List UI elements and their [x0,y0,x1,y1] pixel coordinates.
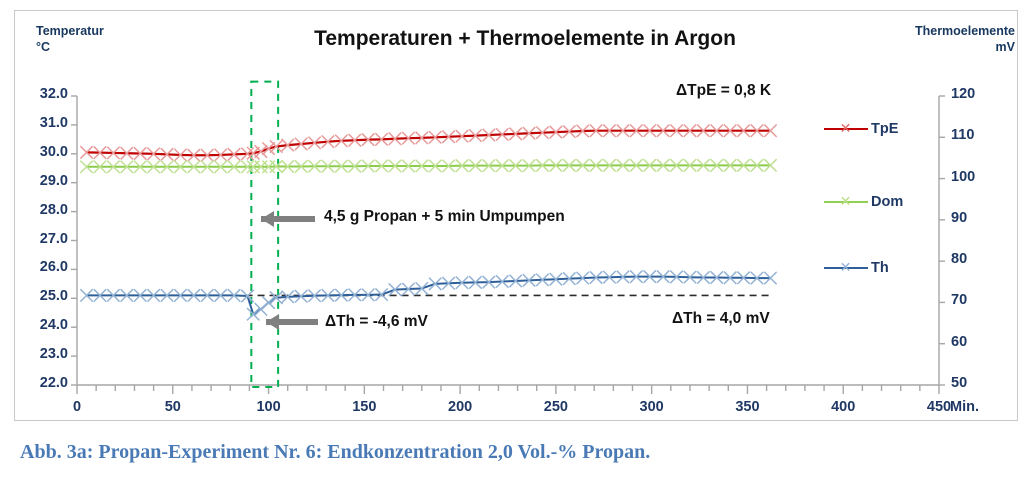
legend-marker-th-icon: ✕ [824,261,868,275]
x-tick-label: 100 [239,399,299,415]
y2-tick-label: 100 [951,169,975,185]
annotation-delta-tpe: ΔTpE = 0,8 K [676,82,771,100]
x-tick-label: 400 [813,399,873,415]
legend-label-tpe: TpE [871,121,898,137]
y2-tick-label: 50 [951,375,967,391]
x-tick-label: 350 [717,399,777,415]
y2-tick-label: 60 [951,334,967,350]
legend-item-dom[interactable]: ✕ Dom [824,194,903,210]
annotation-delta-th-pos: ΔTh = 4,0 mV [672,310,770,328]
y-tick-label: 23.0 [10,346,68,362]
y2-tick-label: 110 [951,127,974,143]
legend-item-tpe[interactable]: ✕ TpE [824,121,898,137]
right-axis-title: Thermoelemente mV [915,24,1015,55]
x-tick-label: 150 [334,399,394,415]
y-tick-label: 28.0 [10,202,68,218]
chart-title: Temperaturen + Thermoelemente in Argon [300,26,750,53]
y-tick-label: 31.0 [10,115,68,131]
legend-marker-tpe-icon: ✕ [824,122,868,136]
figure-root: Temperatur °C Thermoelemente mV Temperat… [0,0,1033,488]
y-tick-label: 22.0 [10,375,68,391]
y2-tick-label: 80 [951,251,967,267]
x-axis-unit-label: Min. [950,399,979,415]
y-tick-label: 29.0 [10,173,68,189]
x-tick-label: 200 [430,399,490,415]
legend-label-th: Th [871,260,889,276]
y-tick-label: 26.0 [10,259,68,275]
x-tick-label: 0 [47,399,107,415]
x-tick-label: 50 [143,399,203,415]
legend-item-th[interactable]: ✕ Th [824,260,889,276]
y-tick-label: 25.0 [10,288,68,304]
figure-caption: Abb. 3a: Propan-Experiment Nr. 6: Endkon… [20,441,650,464]
legend-marker-dom-icon: ✕ [824,195,868,209]
left-axis-title: Temperatur °C [36,24,104,55]
y2-tick-label: 70 [951,292,967,308]
y-tick-label: 24.0 [10,317,68,333]
legend-label-dom: Dom [871,194,903,210]
y-tick-label: 30.0 [10,144,68,160]
y-tick-label: 27.0 [10,231,68,247]
x-tick-label: 300 [622,399,682,415]
y2-tick-label: 120 [951,86,975,102]
y-tick-label: 32.0 [10,86,68,102]
x-tick-label: 250 [526,399,586,415]
annotation-propan: 4,5 g Propan + 5 min Umpumpen [324,208,565,226]
annotation-delta-th-neg: ΔTh = -4,6 mV [325,313,428,331]
y2-tick-label: 90 [951,210,967,226]
